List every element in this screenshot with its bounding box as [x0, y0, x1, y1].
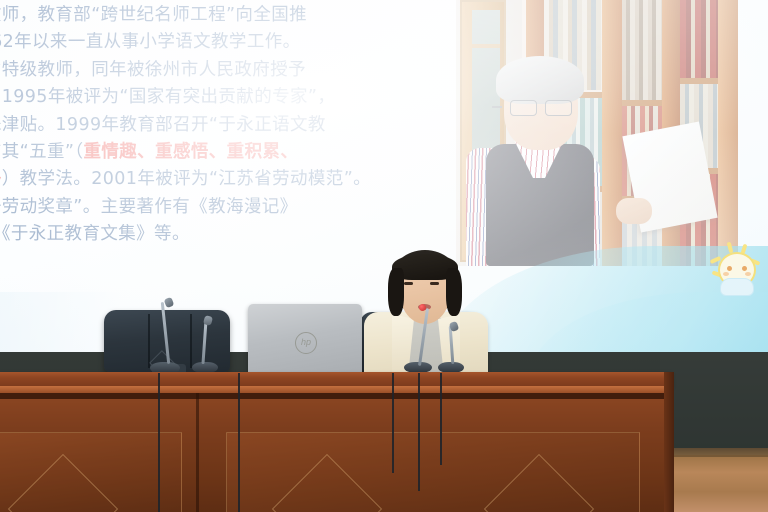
photo-person-teacher — [466, 56, 626, 266]
slide-line-6-text: ，推广其“五重”（ — [0, 142, 83, 162]
laptop-hp[interactable]: hp — [248, 304, 362, 374]
podium-edge — [0, 386, 672, 393]
hp-logo-icon: hp — [295, 332, 317, 354]
mascot-cheek-right — [745, 272, 751, 276]
slide-line-9: 教学》《于永正教育文集》等。 — [0, 221, 448, 248]
slide-mascot-icon — [706, 242, 762, 296]
slide-line-7: 重迁移）教学法。2001年被评为“江苏省劳动模范”。 — [0, 166, 448, 193]
slide-line-1: 特级教师，教育部“跨世纪名师工程”向全国推 — [0, 2, 448, 29]
slide-line-6: ，推广其“五重”（重情趣、重感悟、重积累、 — [0, 139, 448, 166]
slide-line-7-text: ）教学法。2001年被评为“江苏省劳动模范”。 — [2, 169, 371, 189]
photo-glasses-bridge — [492, 106, 502, 108]
back-wall-right — [660, 352, 768, 452]
podium-shadow-line — [0, 393, 672, 399]
slide-line-4: 称号。1995年被评为“国家有突出贡献的专家”， — [0, 84, 448, 111]
mic-speaker-indicator-icon — [419, 304, 426, 311]
podium-top — [0, 372, 672, 386]
presenter-eye-right — [430, 282, 439, 285]
slide-line-2: 1962年以来一直从事小学语文教学工作。 — [0, 29, 448, 56]
mic-cable-1 — [158, 373, 194, 512]
bookcase-frame-4 — [718, 0, 738, 266]
photo-door-bar — [472, 44, 500, 48]
mascot-eye-right — [742, 266, 747, 271]
photo-hand — [616, 198, 652, 224]
mascot-eye-left — [727, 266, 732, 271]
mascot-cheek-left — [723, 272, 729, 276]
screen-tint-left — [0, 292, 120, 352]
slide-highlight-text: 重情趣、重感悟、重积累、 — [83, 142, 298, 162]
slide-photo-teacher-reading — [456, 0, 738, 266]
presenter-hair-side-right — [446, 268, 462, 316]
mascot-body — [720, 278, 754, 296]
mic-cable-2 — [238, 373, 260, 512]
photo-hair — [496, 56, 584, 104]
slide-line-5: 府特殊津贴。1999年教育部召开“于永正语文教 — [0, 112, 448, 139]
slide-text-block: 特级教师，教育部“跨世纪名师工程”向全国推 1962年以来一直从事小学语文教学工… — [0, 2, 448, 249]
slide-line-8: 国五一劳动奖章”。主要著作有《教海漫记》 — [0, 194, 448, 221]
screenshot-stage: 特级教师，教育部“跨世纪名师工程”向全国推 1962年以来一直从事小学语文教学工… — [0, 0, 768, 512]
presenter-eye-left — [404, 282, 413, 285]
presenter-hair-side-left — [388, 268, 404, 316]
slide-line-3: 江苏省特级教师，同年被徐州市人民政府授予 — [0, 57, 448, 84]
podium-right-edge — [664, 372, 674, 512]
podium-seam-1 — [196, 393, 199, 512]
photo-glasses-icon — [510, 100, 572, 114]
